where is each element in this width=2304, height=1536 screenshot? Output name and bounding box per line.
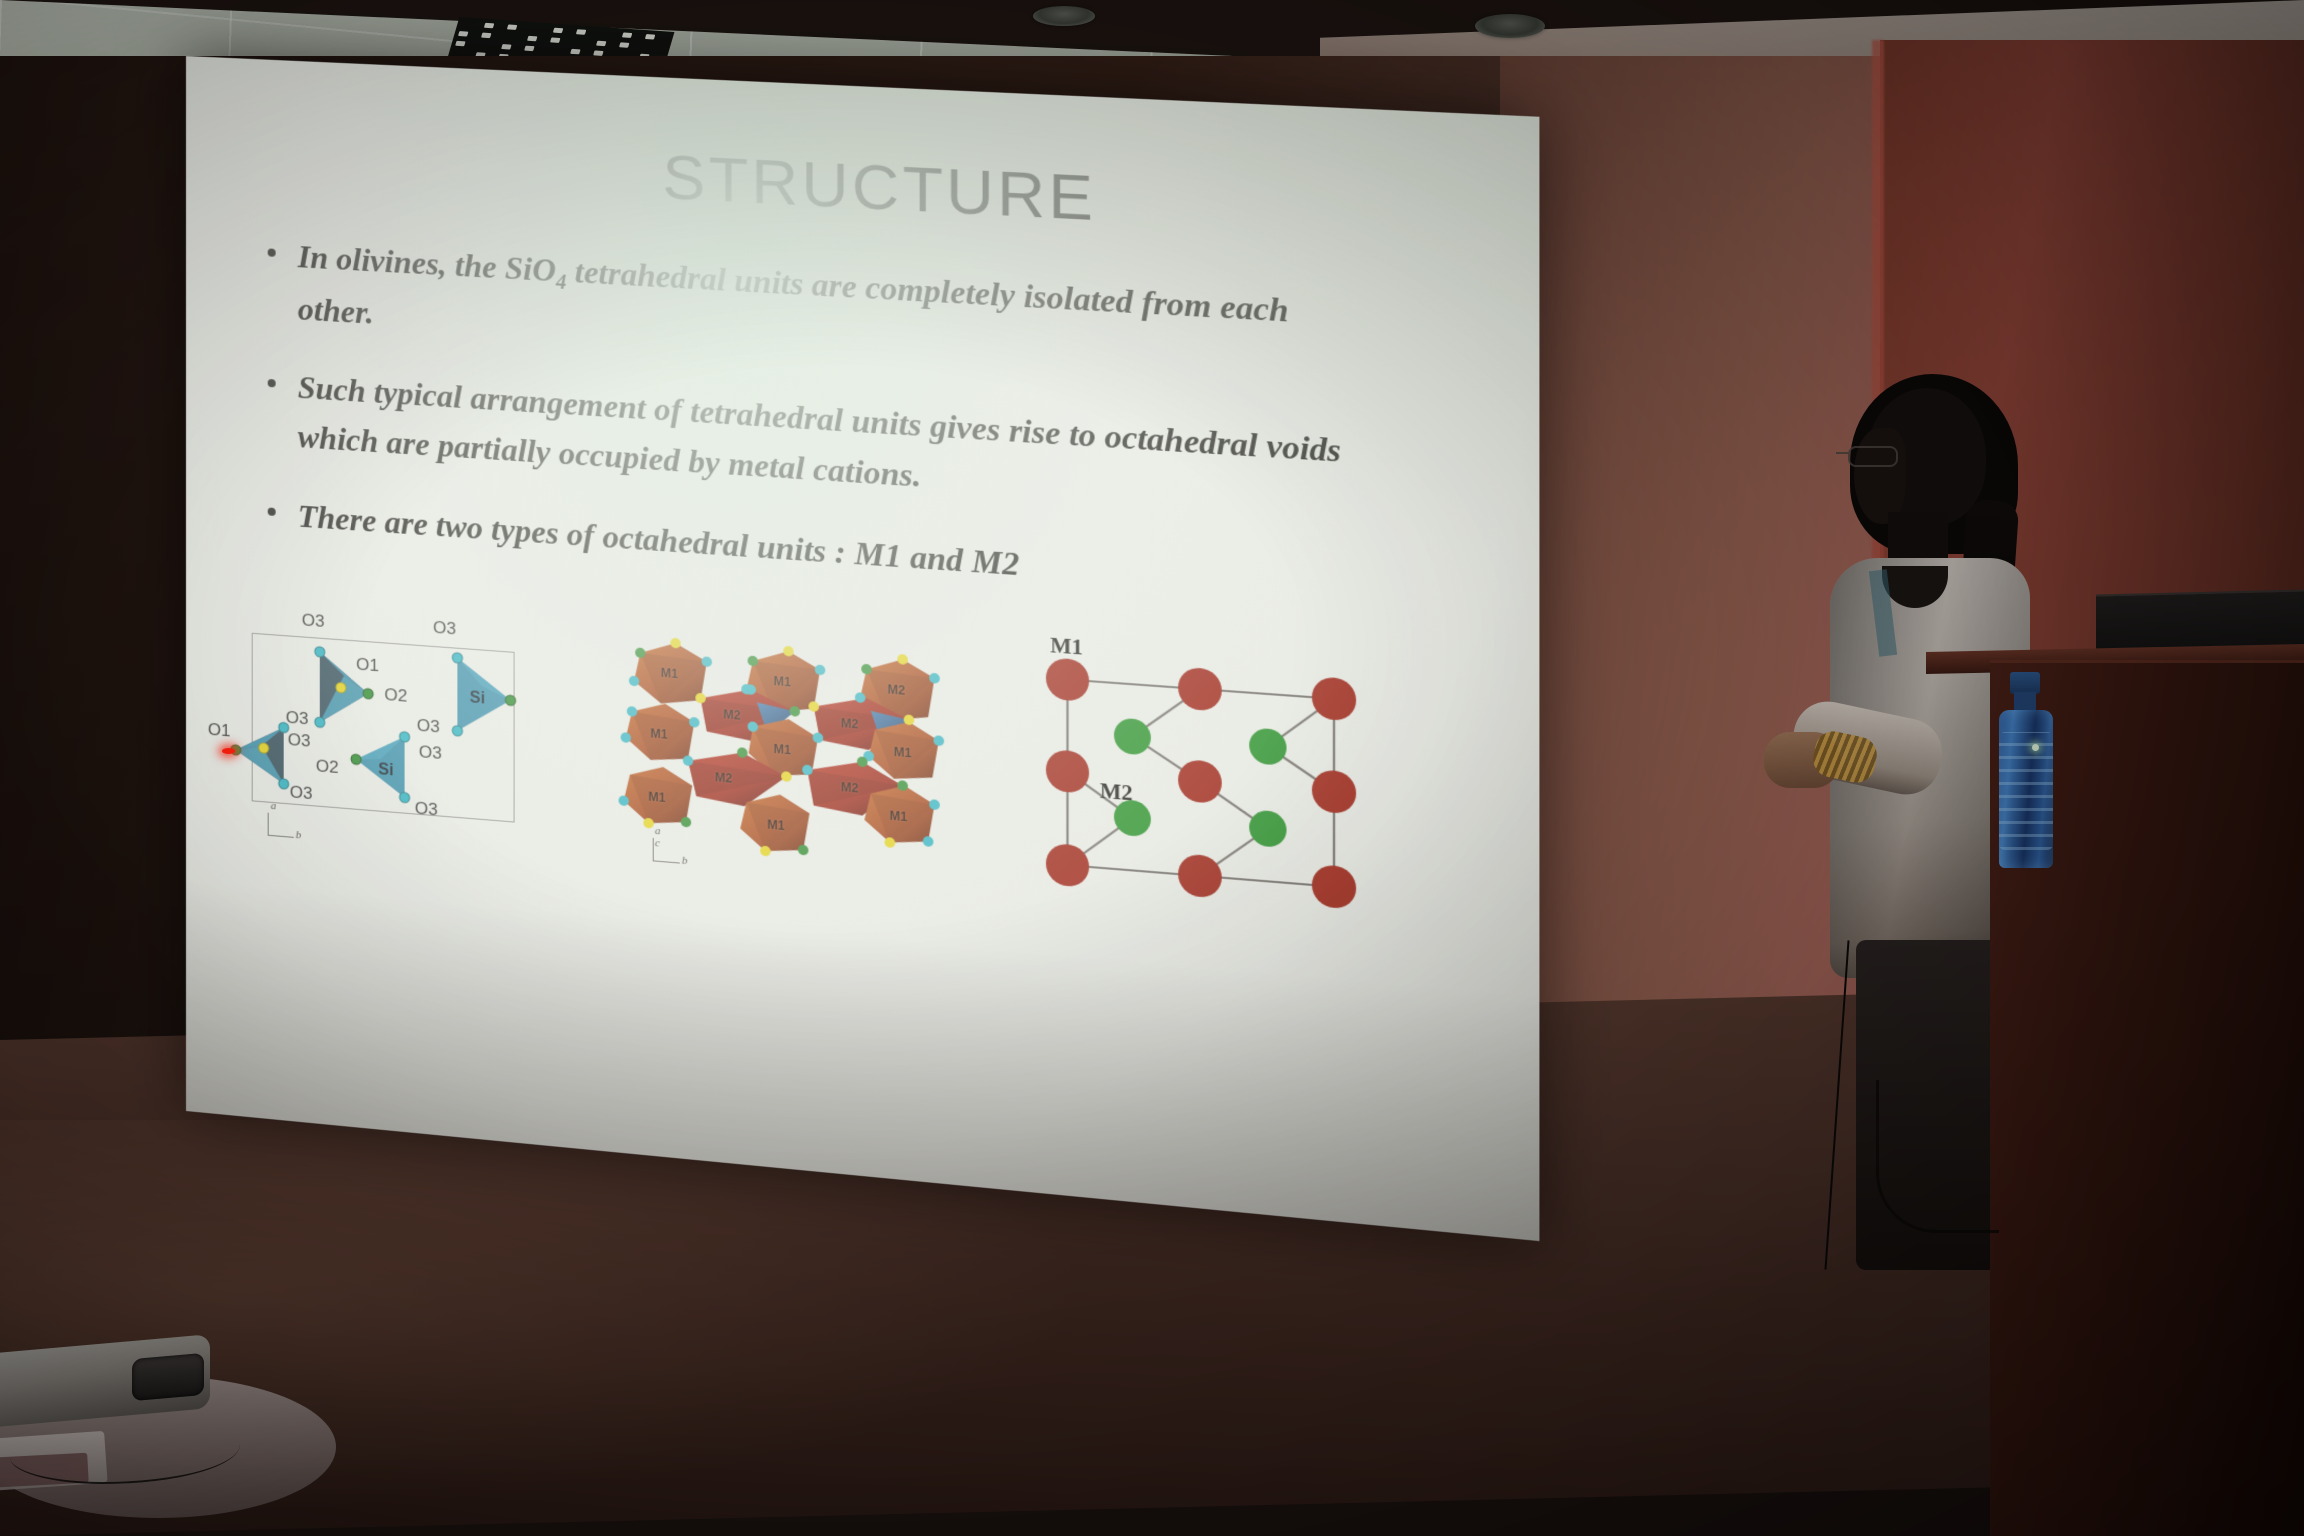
bottle-ribs — [1999, 732, 2053, 850]
projector-lens-icon — [132, 1353, 204, 1401]
lattice-label-m2: M2 — [1100, 778, 1133, 807]
light-cell — [596, 41, 606, 47]
site-label-m1: M1 — [894, 745, 912, 761]
atom-label-o3: O3 — [419, 742, 442, 764]
site-label-m1: M1 — [773, 742, 791, 758]
atom-label-si: Si — [378, 761, 393, 780]
light-cell — [550, 37, 560, 43]
light-cell — [645, 34, 655, 40]
projector-table — [0, 1330, 360, 1510]
site-label-m1: M2 — [887, 682, 905, 698]
light-cell — [484, 23, 494, 29]
figure-polyhedral-framework: M1 M1 M2 M2 M2 M1 M1 M1 M2 M2 M1 M1 M1 — [611, 612, 958, 914]
water-bottle[interactable] — [1998, 672, 2054, 868]
lecture-room-scene: STRUCTURE In olivines, the SiO4 tetrahed… — [0, 0, 2304, 1536]
light-cell — [619, 42, 629, 48]
oxygen-node — [315, 647, 324, 657]
oxygen-node — [315, 717, 324, 727]
lattice-label-m1: M1 — [1050, 632, 1083, 660]
light-cell — [527, 36, 537, 42]
downlight-icon — [1033, 6, 1095, 26]
figure-m1-m2-lattice: M1 M2 — [1044, 647, 1372, 945]
atom-label-o1: O1 — [208, 720, 231, 742]
lattice-graph — [1044, 647, 1372, 935]
bottle-highlight — [2032, 744, 2039, 751]
bottle-cap — [2010, 672, 2040, 694]
oxygen-node — [352, 754, 361, 764]
atom-label-o3: O3 — [288, 730, 311, 752]
glasses-icon — [1848, 446, 1898, 467]
site-label-m2: M2 — [841, 716, 859, 732]
site-label-m2: M2 — [841, 780, 859, 796]
bullet-1-text-before: In olivines, the SiO — [298, 238, 556, 288]
laser-pointer-dot — [222, 748, 235, 754]
light-cell — [455, 41, 465, 47]
axis-vertical-line — [653, 838, 654, 861]
oxygen-node — [453, 726, 462, 736]
light-cell — [458, 31, 468, 37]
floor-cable-right — [1876, 1080, 1999, 1233]
axis-label-ac: a c — [655, 825, 661, 850]
light-cell — [553, 28, 563, 34]
oxygen-node — [364, 689, 373, 699]
silicon-node — [259, 743, 268, 753]
bullet-1-subscript: 4 — [556, 271, 567, 294]
axis-label-a: a — [271, 800, 277, 812]
oxygen-node — [506, 695, 515, 705]
atom-label-o3: O3 — [417, 716, 440, 738]
oxygen-node — [453, 653, 462, 663]
site-label-m1: M1 — [648, 789, 665, 805]
projection-screen[interactable]: STRUCTURE In olivines, the SiO4 tetrahed… — [186, 56, 1539, 1241]
atom-label-o1: O1 — [356, 654, 379, 676]
slide-bullet-list: In olivines, the SiO4 tetrahedral units … — [256, 230, 1372, 645]
tetrahedra-shapes — [228, 597, 552, 874]
light-cell — [576, 29, 586, 35]
axis-label-b: b — [682, 855, 688, 868]
silicon-node — [336, 683, 345, 693]
oxygen-node — [279, 779, 288, 789]
site-label-m1: M1 — [767, 817, 785, 833]
light-cell — [570, 49, 580, 55]
figure-isolated-tetrahedra: O3 O3 O1 O2 Si O3 O3 O1 O3 O3 O2 Si O3 O… — [228, 597, 552, 874]
axis-label-b: b — [296, 829, 302, 842]
atom-label-o3: O3 — [290, 782, 313, 804]
site-label-m2: M2 — [723, 707, 740, 723]
oxygen-node — [400, 732, 409, 742]
bullet-2-text: Such typical arrangement of tetrahedral … — [298, 369, 1341, 494]
atom-label-o2: O2 — [316, 756, 339, 778]
presentation-slide: STRUCTURE In olivines, the SiO4 tetrahed… — [186, 56, 1539, 1241]
site-label-m1: M1 — [773, 674, 791, 690]
projection-screen-area: STRUCTURE In olivines, the SiO4 tetrahed… — [186, 56, 1466, 1176]
atom-label-o3: O3 — [286, 708, 309, 730]
light-cell — [622, 32, 632, 38]
light-cell — [481, 33, 491, 39]
site-label-m1: M1 — [661, 666, 678, 682]
bullet-3-text: There are two types of octahedral units … — [298, 497, 1019, 582]
light-cell — [507, 24, 517, 30]
light-cell — [524, 46, 534, 52]
atom-label-o3: O3 — [415, 798, 438, 820]
presenter-face — [1854, 428, 1906, 524]
light-cell — [501, 44, 511, 50]
site-label-m2: M2 — [715, 770, 732, 786]
oxygen-node — [400, 793, 409, 803]
axis-vertical-line — [268, 813, 269, 835]
downlight-icon — [1475, 14, 1545, 38]
atom-label-o2: O2 — [384, 685, 407, 707]
atom-label-si: Si — [470, 689, 485, 708]
atom-label-o3: O3 — [302, 610, 325, 632]
site-label-m1: M1 — [890, 808, 908, 824]
atom-label-o3: O3 — [433, 618, 456, 640]
bottle-neck — [2014, 692, 2036, 712]
site-label-m1: M1 — [650, 726, 667, 742]
